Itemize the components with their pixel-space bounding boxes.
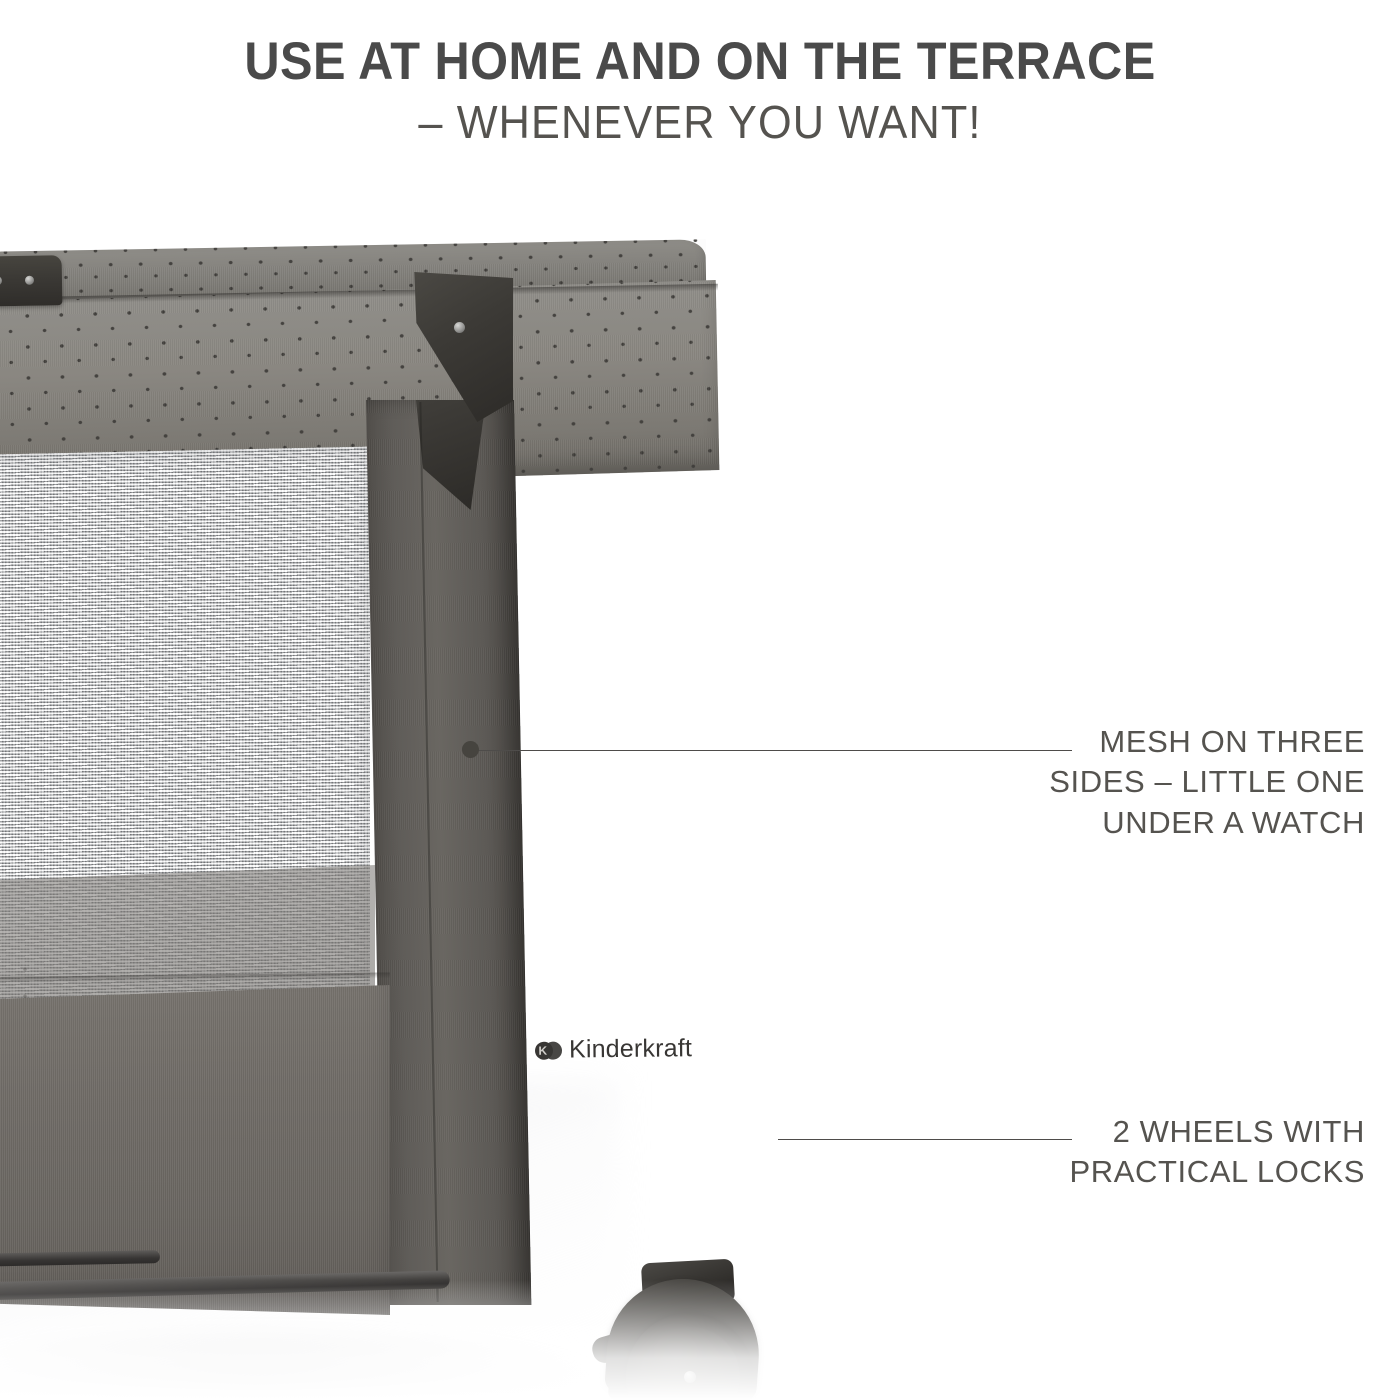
callout-mesh-line-2: SIDES – LITTLE ONE xyxy=(685,762,1365,802)
headline-primary: USE AT HOME AND ON THE TERRACE xyxy=(56,34,1344,90)
callout-mesh-dot-marker xyxy=(462,741,479,758)
brand-logo: K Kinderkraft xyxy=(535,1034,692,1065)
brand-name-text: Kinderkraft xyxy=(569,1034,692,1064)
rivet-icon xyxy=(25,276,34,285)
wheel-center-screw xyxy=(684,1371,696,1383)
callout-wheels-line-2: PRACTICAL LOCKS xyxy=(685,1152,1365,1192)
caster-wheel xyxy=(590,1255,820,1400)
callout-wheels-line-1: 2 WHEELS WITH xyxy=(685,1112,1365,1152)
logo-letter: K xyxy=(538,1043,547,1057)
lower-fabric-skirt xyxy=(0,985,390,1315)
rivet-icon xyxy=(0,276,2,285)
floor-shadow xyxy=(0,1325,610,1400)
callout-mesh-line-1: MESH ON THREE xyxy=(685,722,1365,762)
right-vertical-rail xyxy=(366,400,531,1305)
callout-wheels: 2 WHEELS WITH PRACTICAL LOCKS xyxy=(685,1112,1365,1193)
headline-block: USE AT HOME AND ON THE TERRACE – WHENEVE… xyxy=(0,34,1400,146)
product-feature-image: USE AT HOME AND ON THE TERRACE – WHENEVE… xyxy=(0,0,1400,1400)
headline-secondary: – WHENEVER YOU WANT! xyxy=(42,98,1358,146)
product-photo: K Kinderkraft xyxy=(0,250,800,1400)
callout-mesh-line-3: UNDER A WATCH xyxy=(685,803,1365,843)
weave-texture-post xyxy=(366,400,531,1305)
top-center-bracket xyxy=(0,255,62,307)
rivet-icon xyxy=(454,322,465,333)
weave-texture-skirt xyxy=(0,985,390,1315)
kinderkraft-mark-icon: K xyxy=(535,1041,560,1059)
callout-mesh: MESH ON THREE SIDES – LITTLE ONE UNDER A… xyxy=(685,722,1365,843)
